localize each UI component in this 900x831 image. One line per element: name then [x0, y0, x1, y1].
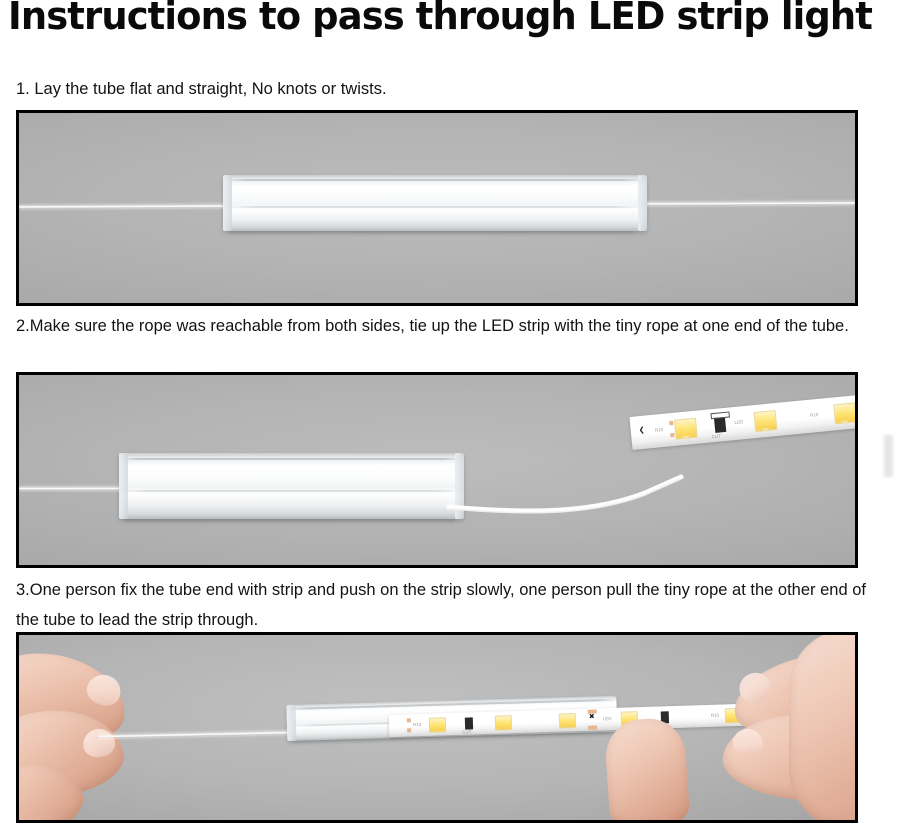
- solder-pad: [588, 725, 597, 729]
- tube-seam-line: [119, 490, 464, 492]
- tube-top-edge: [119, 458, 464, 460]
- tube-left-cap: [119, 453, 128, 519]
- step-3-caption: 3.One person fix the tube end with strip…: [16, 575, 876, 635]
- tube-left-cap: [223, 175, 232, 231]
- right-hand: [709, 632, 858, 823]
- resistor-component: [714, 417, 726, 433]
- rope-left-segment: [19, 487, 129, 490]
- tube-body: [223, 175, 647, 231]
- step-1-caption: 1. Lay the tube flat and straight, No kn…: [16, 74, 876, 104]
- tube-left-cap: [286, 705, 296, 741]
- solder-pad: [407, 718, 411, 722]
- index-finger: [603, 716, 690, 823]
- step-1-photo: [16, 110, 858, 306]
- component-outline: [710, 411, 729, 419]
- tube-body: [119, 453, 464, 519]
- silkscreen-label: R10: [413, 722, 421, 727]
- edge-artifact: [884, 435, 893, 477]
- step-2-caption: 2.Make sure the rope was reachable from …: [16, 311, 876, 341]
- resistor-component: [465, 717, 473, 729]
- silkscreen-label: R10: [810, 412, 819, 418]
- solder-pad: [588, 709, 597, 713]
- solder-pad: [669, 421, 673, 425]
- silkscreen-label: CUT: [711, 433, 721, 439]
- silkscreen-label: LED: [734, 419, 743, 425]
- step-2-photo: ❮ R10 CUT LED R10: [16, 372, 858, 568]
- tube-seam-line: [223, 206, 647, 208]
- step-3-photo: R10 CUT ✖ LED CUT R10 ✖: [16, 632, 858, 823]
- solder-pad: [407, 728, 411, 732]
- led-chip: [429, 717, 446, 733]
- tube-right-cap: [638, 175, 647, 231]
- led-chip: [559, 713, 576, 729]
- rope-curved-segment: [449, 463, 709, 533]
- solder-pad: [670, 433, 674, 437]
- cut-mark-icon: ❮: [638, 427, 645, 435]
- led-channel-tube: [119, 453, 464, 523]
- tube-top-edge: [223, 179, 647, 181]
- silkscreen-label: CUT: [462, 729, 471, 734]
- cut-mark-icon: ✖: [589, 714, 595, 721]
- led-channel-tube: [223, 175, 647, 235]
- led-chip: [495, 715, 512, 731]
- led-strip-pcb: ❮ R10 CUT LED R10: [629, 392, 858, 450]
- silkscreen-label: R10: [655, 427, 664, 433]
- right-hand-palm: [789, 632, 858, 823]
- page-title: Instructions to pass through LED strip l…: [8, 0, 865, 38]
